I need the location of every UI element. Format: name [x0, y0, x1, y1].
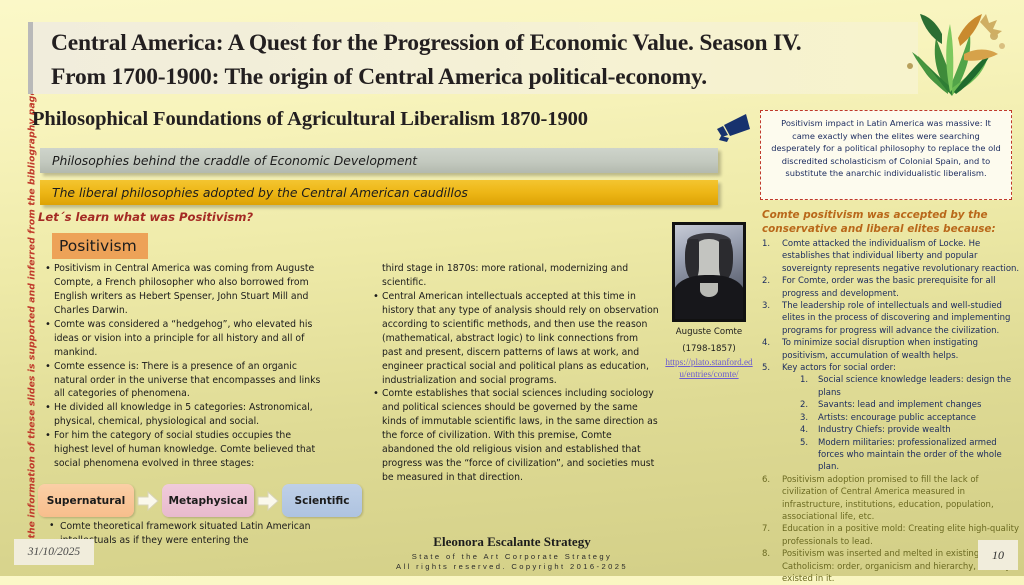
title-line-2: From 1700-1900: The origin of Central Am…	[51, 60, 908, 94]
stage-supernatural: Supernatural	[38, 484, 134, 517]
positivism-tag: Positivism	[52, 233, 148, 259]
left-text-column: Positivism in Central America was coming…	[44, 262, 326, 471]
sub-list-item: 1.Social science knowledge leaders: desi…	[800, 374, 1020, 399]
list-text: For Comte, order was the basic prerequis…	[782, 275, 1020, 300]
right-arrow-icon	[257, 491, 279, 511]
list-number: 2.	[800, 399, 818, 411]
list-item: 2.For Comte, order was the basic prerequ…	[762, 275, 1020, 300]
three-stages-flow: Supernatural Metaphysical Scientific	[38, 484, 368, 517]
list-text: To minimize social disruption when insti…	[782, 337, 1020, 362]
flow-arrow-2	[254, 491, 282, 511]
list-text: Social science knowledge leaders: design…	[818, 374, 1020, 399]
list-item: Comte establishes that social sciences i…	[372, 387, 660, 485]
sub-list-item: 5.Modern militaries: professionalized ar…	[800, 437, 1020, 474]
list-item: 6.Positivism adoption promised to fill t…	[762, 474, 1020, 524]
footer-tagline: State of the Art Corporate Strategy	[0, 552, 1024, 561]
middle-text-column: third stage in 1870s: more rational, mod…	[372, 262, 660, 485]
list-item: Comte was considered a “hedgehog”, who e…	[44, 318, 326, 360]
list-number: 4.	[800, 424, 818, 436]
stage-scientific: Scientific	[282, 484, 362, 517]
page-title: Philosophical Foundations of Agricultura…	[32, 108, 588, 131]
list-number: 3.	[800, 412, 818, 424]
positivism-impact-callout: Positivism impact in Latin America was m…	[760, 110, 1012, 200]
list-item-continuation: third stage in 1870s: more rational, mod…	[372, 262, 660, 290]
bibliography-side-note: All the information of these slides is s…	[27, 156, 38, 556]
title-line-1: Central America: A Quest for the Progres…	[51, 26, 908, 60]
subtitle-bar-philosophies: Philosophies behind the craddle of Econo…	[40, 148, 718, 173]
comte-figure: Auguste Comte (1798-1857) https://plato.…	[663, 222, 755, 381]
list-number: 6.	[762, 474, 782, 524]
list-text: Modern militaries: professionalized arme…	[818, 437, 1020, 474]
list-number: 2.	[762, 275, 782, 300]
right-arrow-icon	[137, 491, 159, 511]
tropical-foliage-icon	[894, 8, 1014, 104]
footer-brand: Eleonora Escalante Strategy	[0, 534, 1024, 550]
right-numbered-list: 1.Comte attacked the individualism of Lo…	[762, 238, 1020, 585]
list-item: 1.Comte attacked the individualism of Lo…	[762, 238, 1020, 275]
list-number: 4.	[762, 337, 782, 362]
list-number: 1.	[762, 238, 782, 275]
list-item: Comte essence is: There is a presence of…	[44, 360, 326, 402]
list-number: 5.	[800, 437, 818, 474]
megaphone-icon	[710, 110, 754, 144]
list-text: Industry Chiefs: provide wealth	[818, 424, 1020, 436]
right-sub-list: 1.Social science knowledge leaders: desi…	[762, 374, 1020, 473]
comte-dates: (1798-1857)	[663, 344, 755, 356]
list-item: 3.The leadership role of intellectuals a…	[762, 300, 1020, 337]
list-text: Positivism adoption promised to fill the…	[782, 474, 1020, 524]
list-item: 5.Key actors for social order:	[762, 362, 1020, 374]
list-item: 4.To minimize social disruption when ins…	[762, 337, 1020, 362]
list-number: 5.	[762, 362, 782, 374]
list-item: He divided all knowledge in 5 categories…	[44, 401, 326, 429]
list-text: Comte attacked the individualism of Lock…	[782, 238, 1020, 275]
slide-canvas: All the information of these slides is s…	[0, 0, 1024, 576]
auguste-comte-portrait	[672, 222, 746, 322]
list-text: Key actors for social order:	[782, 362, 1020, 374]
footer-copyright: All rights reserved. Copyright 2016-2025	[0, 562, 1024, 571]
list-text: Artists: encourage public acceptance	[818, 412, 1020, 424]
flow-arrow-1	[134, 491, 162, 511]
list-text: The leadership role of intellectuals and…	[782, 300, 1020, 337]
comte-source-link[interactable]: https://plato.stanford.edu/entries/comte…	[663, 357, 755, 381]
sub-list-item: 2.Savants: lead and implement changes	[800, 399, 1020, 411]
slide-title-block: Central America: A Quest for the Progres…	[28, 22, 918, 94]
comte-name: Auguste Comte	[663, 327, 755, 339]
subtitle-bar-liberal: The liberal philosophies adopted by the …	[40, 180, 718, 205]
list-item: Positivism in Central America was coming…	[44, 262, 326, 318]
list-item: For him the category of social studies o…	[44, 429, 326, 471]
footer: Eleonora Escalante Strategy State of the…	[0, 534, 1024, 571]
lets-learn-prompt: Let´s learn what was Positivism?	[38, 210, 253, 224]
sub-list-item: 4.Industry Chiefs: provide wealth	[800, 424, 1020, 436]
list-number: 3.	[762, 300, 782, 337]
stage-metaphysical: Metaphysical	[162, 484, 254, 517]
list-number: 1.	[800, 374, 818, 399]
list-text: Savants: lead and implement changes	[818, 399, 1020, 411]
right-column-heading: Comte positivism was accepted by the con…	[762, 208, 1018, 236]
sub-list-item: 3. Artists: encourage public acceptance	[800, 412, 1020, 424]
list-item: Central American intellectuals accepted …	[372, 290, 660, 388]
page-number: 10	[978, 540, 1018, 570]
